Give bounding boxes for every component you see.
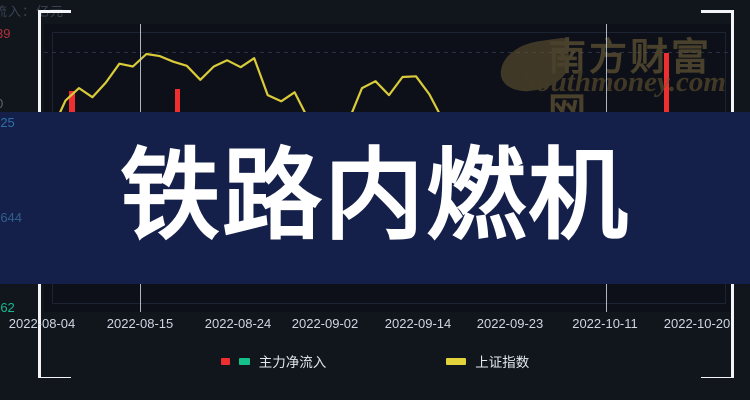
legend-swatch-yellow-icon xyxy=(446,358,466,365)
legend-swatch-green-icon xyxy=(239,358,250,365)
x-axis-label: 2022-10-20 xyxy=(664,316,731,331)
legend-label: 上证指数 xyxy=(475,351,529,371)
bottom-bar xyxy=(0,378,750,400)
legend-item-inflow[interactable]: 主力净流入 xyxy=(221,351,327,371)
y-axis-label: -644 xyxy=(0,210,22,225)
chart-screenshot: 流入：亿元 铁路内燃机 南方财富网 Southmoney.com 390-25-… xyxy=(0,0,750,400)
x-axis-label: 2022-08-24 xyxy=(205,316,272,331)
x-axis-label: 2022-09-02 xyxy=(292,316,359,331)
x-axis-label: 2022-08-04 xyxy=(9,316,76,331)
page-title-text: 铁路内燃机 xyxy=(120,146,630,246)
x-axis-label: 2022-10-11 xyxy=(572,316,638,331)
legend-swatch-red-icon xyxy=(221,358,230,365)
x-axis-label: 2022-09-23 xyxy=(477,316,544,331)
legend-label: 主力净流入 xyxy=(259,351,327,371)
y-axis-label: -25 xyxy=(0,115,15,130)
x-axis-labels: 2022-08-042022-08-152022-08-242022-09-02… xyxy=(0,316,750,338)
y-axis-label: -62 xyxy=(0,300,15,315)
x-axis-label: 2022-08-15 xyxy=(107,316,174,331)
page-title: 铁路内燃机 xyxy=(0,126,750,266)
legend-item-index[interactable]: 上证指数 xyxy=(446,351,529,371)
x-axis-label: 2022-09-14 xyxy=(385,316,452,331)
chart-legend: 主力净流入 上证指数 xyxy=(0,348,750,374)
y-axis-label: 39 xyxy=(0,26,10,41)
y-axis-label: 0 xyxy=(0,96,3,111)
